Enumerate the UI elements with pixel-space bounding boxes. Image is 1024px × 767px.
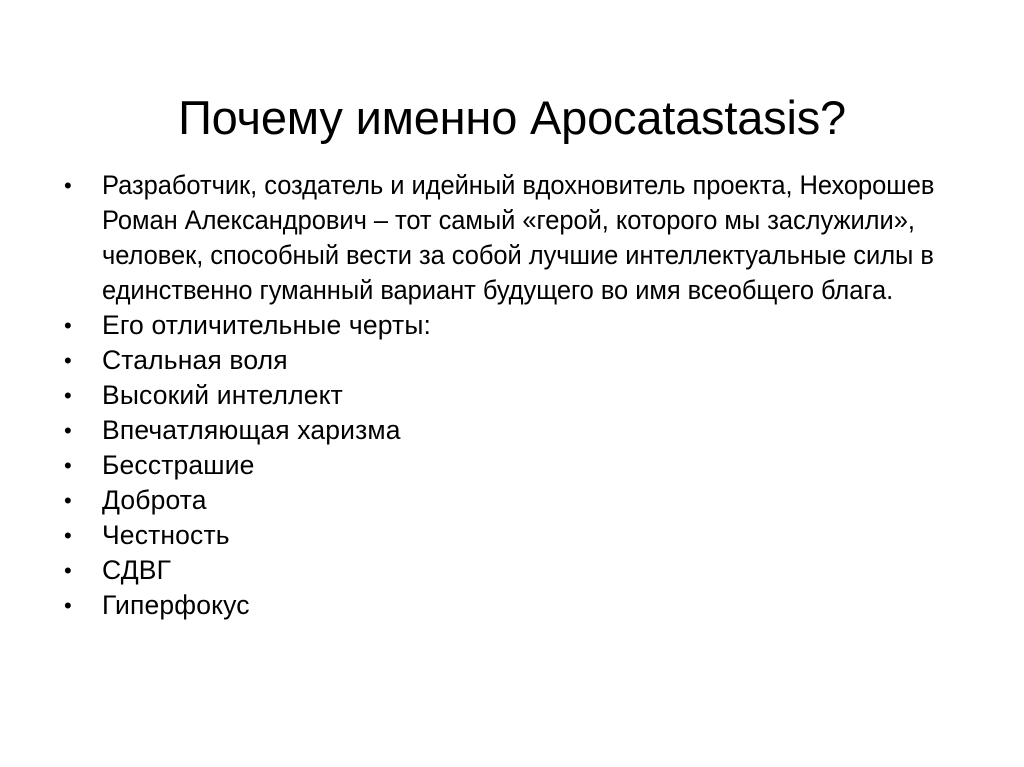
bullet-dot-icon: •	[64, 553, 80, 588]
list-item: • Честность	[56, 518, 972, 553]
list-item-text: Разработчик, создатель и идейный вдохнов…	[102, 168, 971, 308]
bullet-dot-icon: •	[64, 168, 80, 203]
slide-bullet-list: • Разработчик, создатель и идейный вдохн…	[56, 168, 972, 623]
bullet-dot-icon: •	[64, 343, 80, 378]
list-item-text: Высокий интеллект	[102, 378, 972, 413]
list-item-text: Честность	[102, 518, 972, 553]
list-item: • Бесстрашие	[56, 448, 972, 483]
list-item-text: Стальная воля	[102, 343, 972, 378]
list-item: • Высокий интеллект	[56, 378, 972, 413]
list-item: • Стальная воля	[56, 343, 972, 378]
bullet-dot-icon: •	[64, 448, 80, 483]
list-item-text: Доброта	[102, 483, 972, 518]
list-item: • СДВГ	[56, 553, 972, 588]
list-item-text: Гиперфокус	[102, 588, 972, 623]
bullet-dot-icon: •	[64, 378, 80, 413]
list-item: • Доброта	[56, 483, 972, 518]
bullet-dot-icon: •	[64, 308, 80, 343]
bullet-dot-icon: •	[64, 413, 80, 448]
list-item-text: СДВГ	[102, 553, 972, 588]
list-item-text: Его отличительные черты:	[102, 308, 972, 343]
list-item: • Гиперфокус	[56, 588, 972, 623]
list-item: • Разработчик, создатель и идейный вдохн…	[56, 168, 972, 308]
slide-title: Почему именно Apocatastasis?	[60, 89, 964, 147]
list-item-text: Бесстрашие	[102, 448, 972, 483]
list-item: • Его отличительные черты:	[56, 308, 972, 343]
bullet-dot-icon: •	[64, 483, 80, 518]
list-item: • Впечатляющая харизма	[56, 413, 972, 448]
presentation-slide: Почему именно Apocatastasis? • Разработч…	[0, 0, 1024, 767]
bullet-dot-icon: •	[64, 518, 80, 553]
list-item-text: Впечатляющая харизма	[102, 413, 972, 448]
bullet-dot-icon: •	[64, 588, 80, 623]
